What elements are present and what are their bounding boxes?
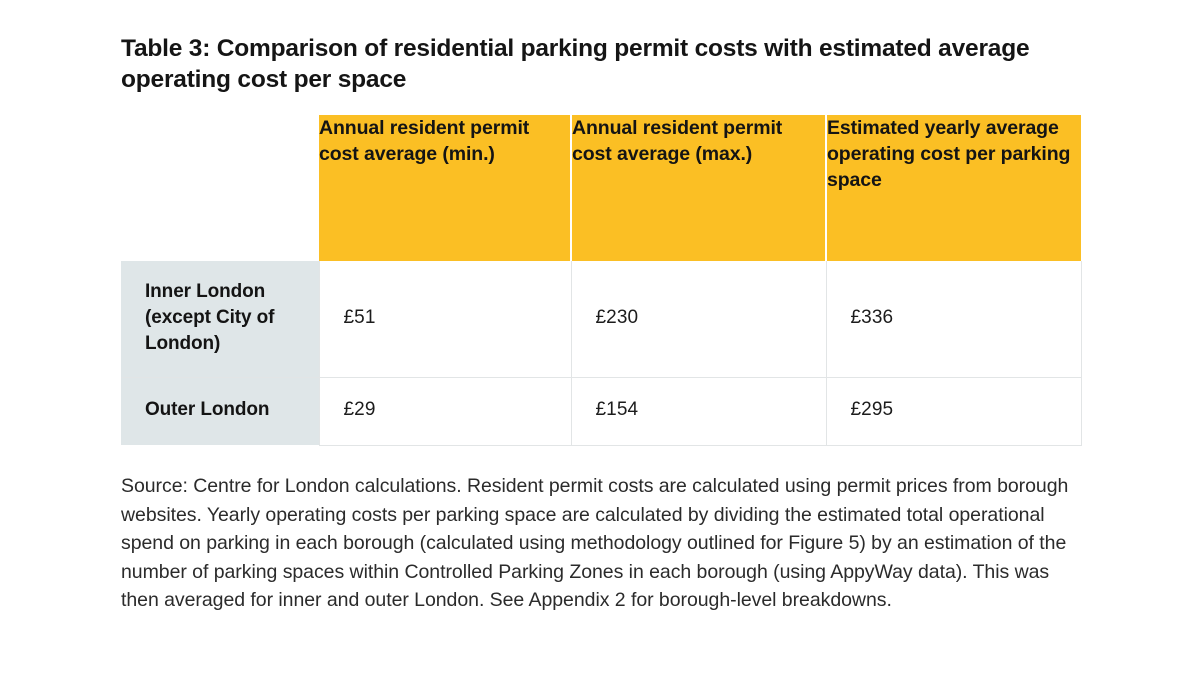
- row-label-inner-london: Inner London (except City of London): [121, 261, 319, 377]
- table-title: Table 3: Comparison of residential parki…: [121, 33, 1051, 95]
- cell-inner-london-permit-min: £51: [319, 261, 571, 377]
- table-body: Inner London (except City of London) £51…: [121, 261, 1081, 445]
- cell-inner-london-permit-max: £230: [571, 261, 826, 377]
- source-note: Source: Centre for London calculations. …: [121, 472, 1073, 615]
- cell-inner-london-operating-cost: £336: [826, 261, 1081, 377]
- table-header-row: Annual resident permit cost average (min…: [121, 115, 1081, 261]
- table-header: Annual resident permit cost average (min…: [121, 115, 1081, 261]
- cell-outer-london-permit-min: £29: [319, 377, 571, 445]
- column-header-operating-cost: Estimated yearly average operating cost …: [826, 115, 1081, 261]
- cell-outer-london-operating-cost: £295: [826, 377, 1081, 445]
- comparison-table: Annual resident permit cost average (min…: [121, 115, 1082, 446]
- column-header-permit-cost-max: Annual resident permit cost average (max…: [571, 115, 826, 261]
- table-row: Outer London £29 £154 £295: [121, 377, 1081, 445]
- column-header-permit-cost-min: Annual resident permit cost average (min…: [319, 115, 571, 261]
- cell-outer-london-permit-max: £154: [571, 377, 826, 445]
- table-row: Inner London (except City of London) £51…: [121, 261, 1081, 377]
- row-label-outer-london: Outer London: [121, 377, 319, 445]
- table-figure-page: Table 3: Comparison of residential parki…: [0, 0, 1200, 684]
- table-corner-cell: [121, 115, 319, 261]
